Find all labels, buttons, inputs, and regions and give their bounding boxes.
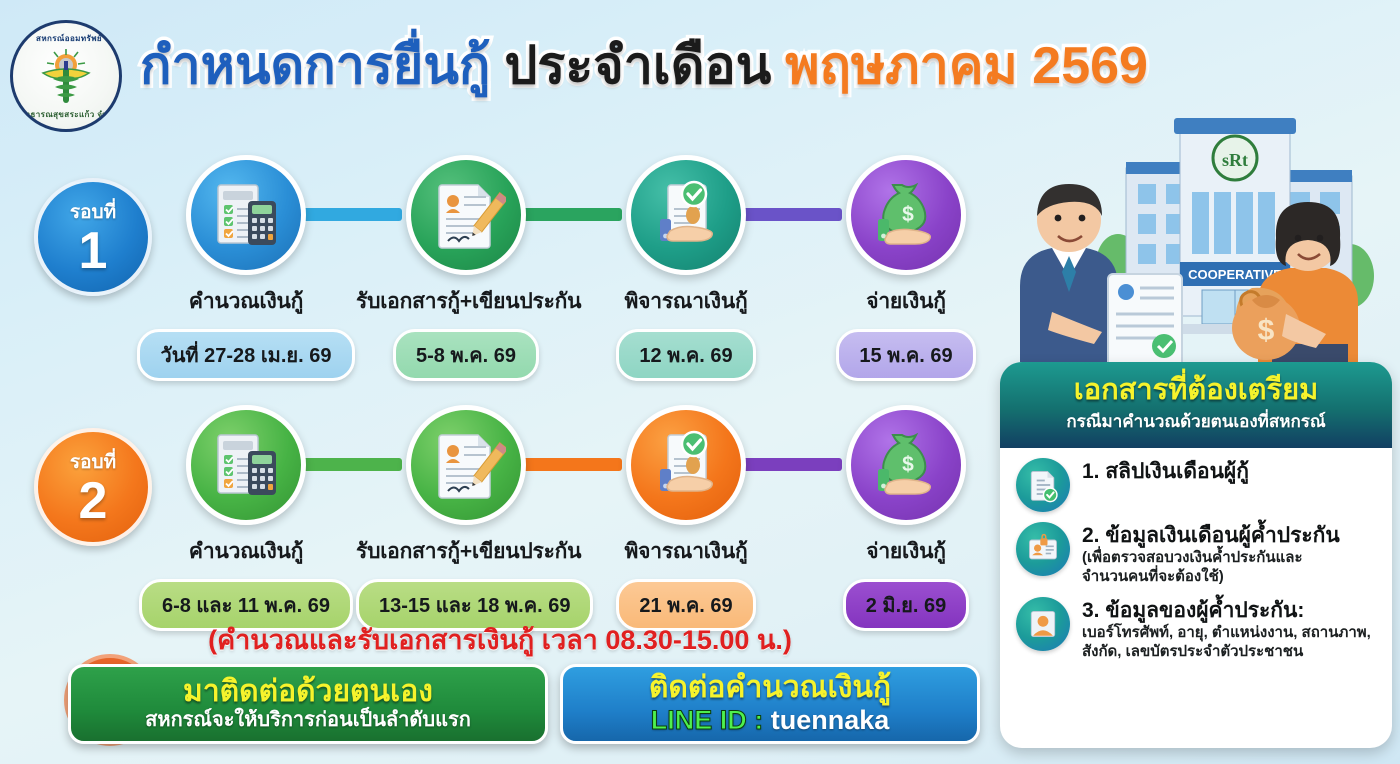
doc-item-2: 2. ข้อมูลเงินเดือนผู้ค้ำประกัน (เพื่อตรว… (1000, 512, 1392, 587)
page-title: กำหนดการยื่นกู้ ประจำเดือน พฤษภาคม 2569 (140, 26, 1148, 106)
svg-text:sRt: sRt (1222, 150, 1248, 170)
round-badge-1: รอบที่ 1 (34, 178, 152, 296)
step-date-pill: 12 พ.ค. 69 (616, 329, 755, 381)
document-pencil-icon (406, 405, 526, 525)
line-id-label: LINE ID : (651, 705, 764, 735)
step-r2-3[interactable]: พิจารณาเงินกู้ 21 พ.ค. 69 (576, 400, 796, 631)
doc-item-1-title: 1. สลิปเงินเดือนผู้กู้ (1082, 460, 1249, 484)
doc-item-3-title: 3. ข้อมูลของผู้ค้ำประกัน: (1082, 599, 1371, 623)
svg-text:$: $ (902, 453, 914, 476)
green-banner-line2: สหกรณ์จะให้บริการก่อนเป็นลำดับแรก (145, 709, 471, 732)
step-label: จ่ายเงินกู้ (796, 535, 1016, 568)
hand-money-bag-icon: $ (846, 405, 966, 525)
step-r1-1[interactable]: คำนวณเงินกู้ วันที่ 27-28 เม.ย. 69 (136, 150, 356, 381)
doc-item-2-title: 2. ข้อมูลเงินเดือนผู้ค้ำประกัน (1082, 524, 1340, 548)
step-label: พิจารณาเงินกู้ (576, 285, 796, 318)
title-part-1: กำหนดการยื่นกู้ (140, 40, 490, 92)
doc-item-1: 1. สลิปเงินเดือนผู้กู้ (1000, 448, 1392, 512)
step-r2-1[interactable]: คำนวณเงินกู้ 6-8 และ 11 พ.ค. 69 (136, 400, 356, 631)
step-date-pill: วันที่ 27-28 เม.ย. 69 (137, 329, 354, 381)
document-pencil-icon (406, 155, 526, 275)
step-label: คำนวณเงินกู้ (136, 535, 356, 568)
calculator-checklist-icon (186, 405, 306, 525)
step-label: จ่ายเงินกู้ (796, 285, 1016, 318)
step-label: รับเอกสารกู้+เขียนประกัน (356, 285, 576, 318)
caduceus-emblem-icon (33, 43, 99, 109)
step-r2-2[interactable]: รับเอกสารกู้+เขียนประกัน 13-15 และ 18 พ.… (356, 400, 576, 631)
blue-banner-line1: ติดต่อคำนวณเงินกู้ (649, 672, 891, 704)
docs-panel-subtitle: กรณีมาคำนวณด้วยตนเองที่สหกรณ์ (1066, 408, 1325, 435)
round-badge-1-number: 1 (79, 227, 108, 276)
hand-money-bag-icon: $ (846, 155, 966, 275)
doc-item-3: 3. ข้อมูลของผู้ค้ำประกัน: เบอร์โทรศัพท์,… (1000, 587, 1392, 662)
id-card-lock-icon (1016, 522, 1070, 576)
round-badge-2: รอบที่ 2 (34, 428, 152, 546)
required-documents-panel: เอกสารที่ต้องเตรียม กรณีมาคำนวณด้วยตนเอง… (1000, 362, 1392, 748)
hand-approved-document-icon (626, 405, 746, 525)
contact-in-person-banner[interactable]: มาติดต่อด้วยตนเอง สหกรณ์จะให้บริการก่อนเ… (68, 664, 548, 744)
logo-bottom-text: สาธารณสุขสระแก้ว จำกัด (13, 108, 122, 121)
step-label: คำนวณเงินกู้ (136, 285, 356, 318)
doc-item-3-sub: เบอร์โทรศัพท์, อายุ, ตำแหน่งงาน, สถานภาพ… (1082, 624, 1371, 662)
step-date-pill: 5-8 พ.ค. 69 (393, 329, 539, 381)
hand-approved-document-icon (626, 155, 746, 275)
step-r2-4[interactable]: $ จ่ายเงินกู้ 2 มิ.ย. 69 (796, 400, 1016, 631)
green-banner-line1: มาติดต่อด้วยตนเอง (183, 676, 433, 708)
line-contact-banner[interactable]: ติดต่อคำนวณเงินกู้ LINE ID : tuennaka (560, 664, 980, 744)
title-part-2: ประจำเดือน (504, 40, 771, 92)
docs-panel-header: เอกสารที่ต้องเตรียม กรณีมาคำนวณด้วยตนเอง… (1000, 362, 1392, 448)
step-label: รับเอกสารกู้+เขียนประกัน (356, 535, 576, 568)
step-date-pill: 15 พ.ค. 69 (836, 329, 975, 381)
svg-text:$: $ (902, 203, 914, 226)
calculator-checklist-icon (186, 155, 306, 275)
step-r1-2[interactable]: รับเอกสารกู้+เขียนประกัน 5-8 พ.ค. 69 (356, 150, 576, 381)
cooperative-logo: สหกรณ์ออมทรัพย์ สาธารณสุขสระแก้ว จำกัด (10, 20, 122, 132)
doc-item-2-sub: (เพื่อตรวจสอบวงเงินค้ำประกันและ จำนวนคนท… (1082, 549, 1340, 587)
cooperative-illustration: sRt COOPERATIVE (990, 96, 1400, 376)
round-1-row: รอบที่ 1 (0, 150, 1000, 365)
step-r1-3[interactable]: พิจารณาเงินกู้ 12 พ.ค. 69 (576, 150, 796, 381)
docs-panel-title: เอกสารที่ต้องเตรียม (1074, 375, 1318, 405)
round-badge-2-number: 2 (79, 477, 108, 526)
infographic-canvas: สหกรณ์ออมทรัพย์ สาธารณสุขสระแก้ว จำกัด ก (0, 0, 1400, 764)
person-card-icon (1016, 597, 1070, 651)
title-part-3: พฤษภาคม 2569 (785, 40, 1148, 92)
line-id-value[interactable]: tuennaka (771, 705, 890, 735)
svg-text:$: $ (1258, 314, 1275, 347)
round-2-row: รอบที่ 2 (0, 400, 1000, 615)
document-check-icon (1016, 458, 1070, 512)
step-label: พิจารณาเงินกู้ (576, 535, 796, 568)
blue-banner-line2: LINE ID : tuennaka (651, 705, 890, 736)
step-r1-4[interactable]: $ จ่ายเงินกู้ 15 พ.ค. 69 (796, 150, 1016, 381)
